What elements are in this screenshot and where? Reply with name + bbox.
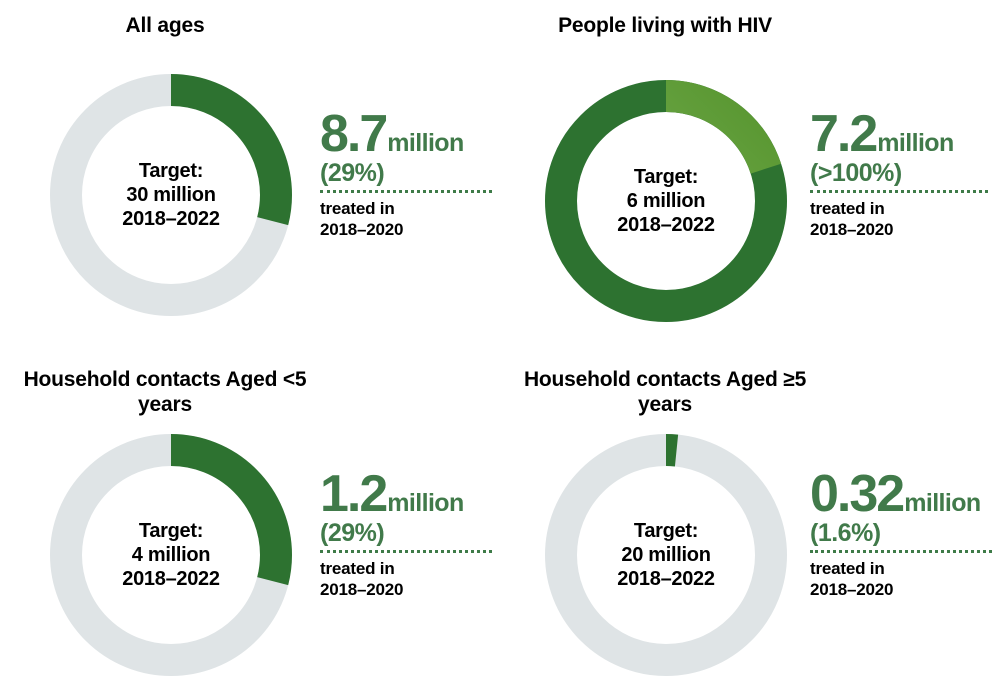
panel-all-ages: All ages Target: 30 million 2018–2022 8.… (0, 0, 500, 348)
stat-caption-line-1: treated in (320, 558, 492, 579)
stat-percent: (29%) (320, 520, 492, 546)
donut-svg (545, 434, 787, 676)
donut-svg (545, 80, 787, 322)
stat-headline: 0.32 million (810, 470, 992, 519)
donut-chart: Target: 30 million 2018–2022 (50, 74, 292, 316)
panel-title: People living with HIV (500, 14, 830, 39)
donut-chart: Target: 6 million 2018–2022 (545, 80, 787, 322)
stat-caption: treated in 2018–2020 (810, 198, 988, 241)
panel-title-line: Household contacts (24, 368, 221, 391)
stat-divider (320, 550, 492, 553)
donut-track (561, 450, 771, 660)
stat-unit: million (387, 489, 463, 518)
stat-block: 8.7 million (29%) treated in 2018–2020 (320, 110, 492, 240)
stat-caption-line-2: 2018–2020 (320, 579, 492, 600)
donut-chart: Target: 20 million 2018–2022 (545, 434, 787, 676)
panel-household-contacts-5-and-over: Household contacts Aged ≥5 years Target:… (500, 348, 1000, 696)
stat-caption: treated in 2018–2020 (320, 558, 492, 601)
donut-svg (50, 74, 292, 316)
stat-divider (320, 190, 492, 193)
panel-title: Household contacts Aged ≥5 years (500, 368, 830, 418)
stat-caption-line-2: 2018–2020 (320, 219, 492, 240)
stat-percent: (29%) (320, 160, 492, 186)
stat-value: 0.32 (810, 470, 903, 519)
stat-divider (810, 550, 992, 553)
panel-people-living-with-hiv: People living with HIV Target: 6 million (500, 0, 1000, 348)
stat-value: 1.2 (320, 470, 386, 519)
stat-percent: (>100%) (810, 160, 988, 186)
stat-block: 7.2 million (>100%) treated in 2018–2020 (810, 110, 988, 240)
stat-percent: (1.6%) (810, 520, 992, 546)
stat-headline: 1.2 million (320, 470, 492, 519)
stat-caption-line-1: treated in (810, 198, 988, 219)
panel-title-line: People living (558, 14, 685, 37)
panel-title: Household contacts Aged <5 years (0, 368, 330, 418)
stat-value: 8.7 (320, 110, 386, 159)
panel-title-line: with HIV (691, 14, 772, 37)
stat-unit: million (904, 489, 980, 518)
donut-svg (50, 434, 292, 676)
stat-headline: 7.2 million (810, 110, 988, 159)
stat-headline: 8.7 million (320, 110, 492, 159)
stat-caption-line-2: 2018–2020 (810, 579, 992, 600)
stat-unit: million (877, 129, 953, 158)
stat-divider (810, 190, 988, 193)
stat-caption-line-1: treated in (810, 558, 992, 579)
panel-title-line: All ages (126, 14, 205, 37)
stat-block: 0.32 million (1.6%) treated in 2018–2020 (810, 470, 992, 600)
stat-caption-line-1: treated in (320, 198, 492, 219)
panel-title: All ages (0, 14, 330, 39)
stat-block: 1.2 million (29%) treated in 2018–2020 (320, 470, 492, 600)
stat-caption: treated in 2018–2020 (320, 198, 492, 241)
stat-unit: million (387, 129, 463, 158)
panel-title-line: Household contacts (524, 368, 721, 391)
stat-value: 7.2 (810, 110, 876, 159)
stat-caption-line-2: 2018–2020 (810, 219, 988, 240)
donut-chart: Target: 4 million 2018–2022 (50, 434, 292, 676)
infographic-root: All ages Target: 30 million 2018–2022 8.… (0, 0, 1000, 696)
stat-caption: treated in 2018–2020 (810, 558, 992, 601)
panel-household-contacts-under-5: Household contacts Aged <5 years Target:… (0, 348, 500, 696)
